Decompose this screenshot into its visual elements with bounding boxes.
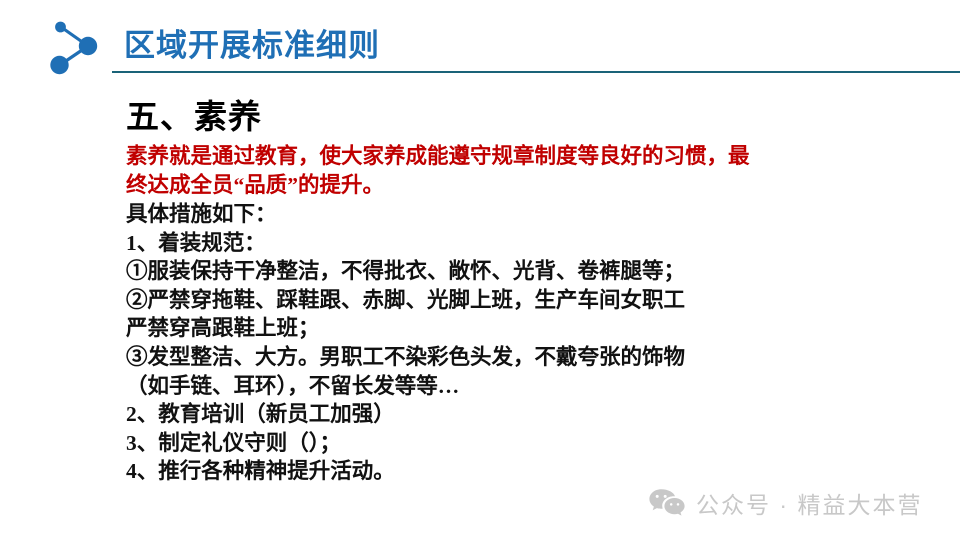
watermark: 公众号 · 精益大本营 — [648, 486, 922, 520]
header-divider — [112, 71, 960, 73]
list-item: 4、推行各种精神提升活动。 — [126, 457, 806, 486]
slide-header: 区域开展标准细则 — [0, 0, 960, 90]
definition-paragraph: 素养就是通过教育，使大家养成能遵守规章制度等良好的习惯，最终达成全员“品质”的提… — [126, 142, 762, 199]
section-heading: 五、素养 — [126, 96, 806, 140]
list-item: ①服装保持干净整洁，不得批衣、敞怀、光背、卷裤腿等； — [126, 257, 806, 286]
list-item: 2、教育培训（新员工加强） — [126, 400, 806, 429]
page-title: 区域开展标准细则 — [124, 26, 380, 66]
list-item: （如手链、耳环），不留长发等等… — [126, 372, 806, 401]
list-item: ③发型整洁、大方。男职工不染彩色头发，不戴夸张的饰物 — [126, 343, 806, 372]
slide-canvas: 区域开展标准细则 五、素养 素养就是通过教育，使大家养成能遵守规章制度等良好的习… — [0, 0, 960, 540]
list-item: ②严禁穿拖鞋、踩鞋跟、赤脚、光脚上班，生产车间女职工 — [126, 286, 806, 315]
list-item: 严禁穿高跟鞋上班； — [126, 314, 806, 343]
slide-content: 五、素养 素养就是通过教育，使大家养成能遵守规章制度等良好的习惯，最终达成全员“… — [126, 96, 806, 486]
measures-list: 具体措施如下： 1、着装规范： ①服装保持干净整洁，不得批衣、敞怀、光背、卷裤腿… — [126, 200, 806, 486]
list-item: 1、着装规范： — [126, 229, 806, 258]
list-item: 具体措施如下： — [126, 200, 806, 229]
wechat-icon — [648, 487, 686, 519]
network-share-icon — [44, 18, 106, 76]
watermark-label: 公众号 · 精益大本营 — [696, 486, 922, 520]
list-item: 3、制定礼仪守则（）； — [126, 429, 806, 458]
